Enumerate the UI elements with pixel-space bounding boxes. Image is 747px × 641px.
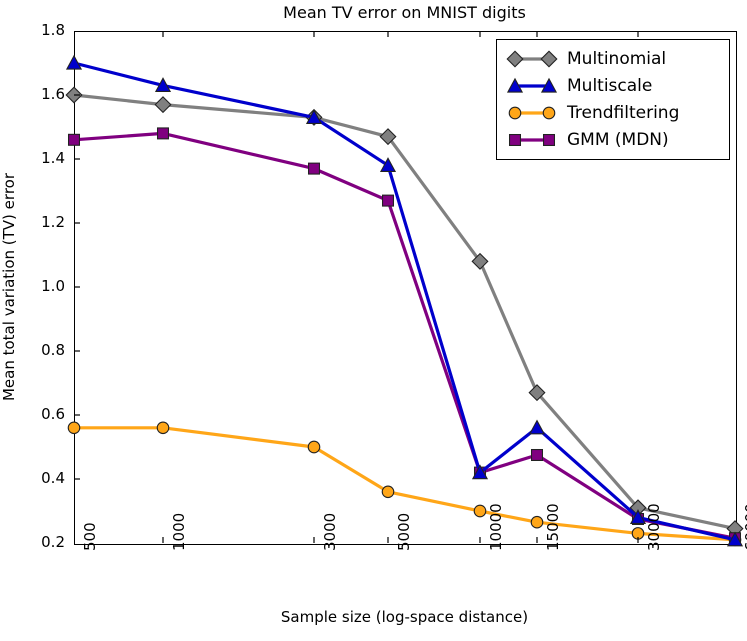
data-point-marker: [532, 450, 543, 461]
legend-item-multiscale[interactable]: Multiscale: [505, 72, 721, 99]
y-tick-label: 1.0: [5, 277, 65, 295]
legend-item-trendfiltering[interactable]: Trendfiltering: [505, 99, 721, 126]
x-tick-label: 15000: [544, 503, 562, 551]
y-tick-label: 1.4: [5, 149, 65, 167]
data-point-marker: [158, 128, 169, 139]
x-tick-label: 5000: [395, 513, 413, 551]
data-point-marker: [383, 195, 394, 206]
legend-label: Multiscale: [559, 76, 652, 96]
legend-label: Trendfiltering: [559, 103, 679, 123]
legend-label: GMM (MDN): [559, 130, 669, 150]
data-point-marker: [155, 97, 171, 113]
x-tick-label: 3000: [321, 513, 339, 551]
x-tick-label: 500: [81, 522, 99, 551]
data-point-marker: [474, 505, 486, 517]
data-point-marker: [157, 422, 169, 434]
data-point-marker: [66, 87, 82, 103]
legend-swatch-square-icon: [505, 129, 559, 151]
x-axis-label: Sample size (log-space distance): [74, 608, 735, 626]
series-line: [74, 95, 735, 529]
data-point-marker: [68, 422, 80, 434]
x-tick-label: 60000: [742, 503, 747, 551]
y-tick-label: 1.6: [5, 85, 65, 103]
data-point-marker: [309, 163, 320, 174]
y-tick-label: 1.2: [5, 213, 65, 231]
data-point-marker: [308, 441, 320, 453]
series-line: [74, 133, 735, 538]
x-tick-label: 30000: [645, 503, 663, 551]
x-tick-label: 1000: [170, 513, 188, 551]
data-point-marker: [530, 421, 544, 434]
series-gmm-mdn: [69, 128, 741, 544]
y-tick-label: 0.6: [5, 405, 65, 423]
x-tick-label: 10000: [487, 503, 505, 551]
legend-item-multinomial[interactable]: Multinomial: [505, 45, 721, 72]
data-point-marker: [382, 486, 394, 498]
data-point-marker: [67, 56, 81, 69]
legend-label: Multinomial: [559, 49, 666, 69]
y-tick-label: 1.8: [5, 21, 65, 39]
legend-item-gmm-mdn[interactable]: GMM (MDN): [505, 126, 721, 153]
data-point-marker: [632, 528, 644, 540]
figure: Mean TV error on MNIST digits Mean total…: [0, 0, 747, 641]
y-tick-label: 0.4: [5, 469, 65, 487]
chart-title: Mean TV error on MNIST digits: [74, 3, 735, 23]
legend-swatch-triangle-icon: [505, 75, 559, 97]
legend-swatch-diamond-icon: [505, 48, 559, 70]
data-point-marker: [69, 134, 80, 145]
data-point-marker: [381, 158, 395, 171]
data-point-marker: [531, 516, 543, 528]
y-tick-label: 0.8: [5, 341, 65, 359]
legend-swatch-circle-icon: [505, 102, 559, 124]
legend: MultinomialMultiscaleTrendfilteringGMM (…: [496, 39, 730, 160]
y-tick-label: 0.2: [5, 533, 65, 551]
